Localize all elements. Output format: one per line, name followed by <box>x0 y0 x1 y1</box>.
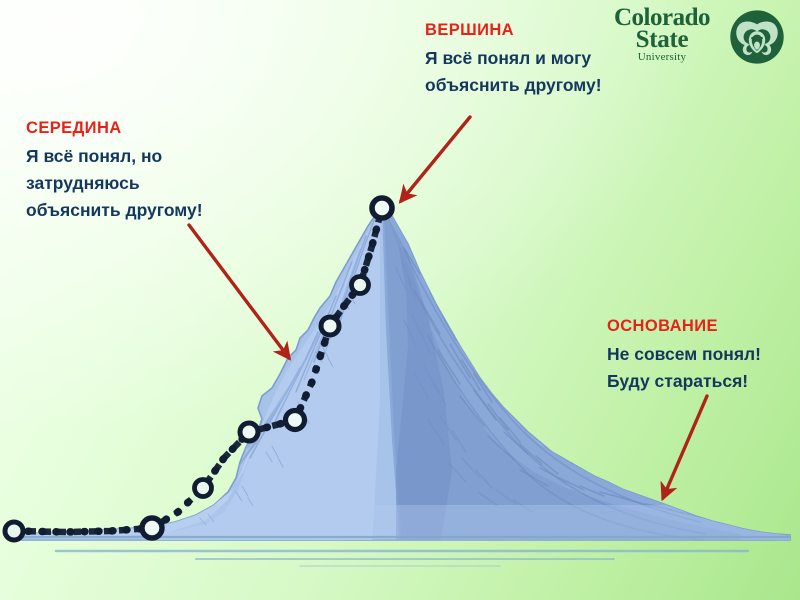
path-marker <box>5 522 23 540</box>
callout-base-line-2: Буду стараться! <box>607 370 761 393</box>
callout-middle: СЕРЕДИНА Я всё понял, но затрудняюсь объ… <box>26 118 203 227</box>
callout-summit: ВЕРШИНА Я всё понял и могу объяснить дру… <box>425 20 602 101</box>
callout-summit-heading: ВЕРШИНА <box>425 20 602 42</box>
csu-wordmark-line-3: University <box>598 51 726 63</box>
csu-wordmark: Colorado State University <box>598 6 726 64</box>
slide-canvas: СЕРЕДИНА Я всё понял, но затрудняюсь объ… <box>0 0 800 600</box>
path-marker <box>372 198 392 218</box>
path-marker <box>321 317 339 335</box>
callout-summit-line-2: объяснить другому! <box>425 74 602 97</box>
ram-head-icon <box>728 8 786 66</box>
callout-middle-heading: СЕРЕДИНА <box>26 118 203 140</box>
colorado-state-logo: Colorado State University <box>598 6 794 68</box>
path-marker <box>286 411 305 430</box>
ground-lines <box>10 537 790 566</box>
arrow-to-summit <box>401 117 470 201</box>
callout-middle-line-3: объяснить другому! <box>26 199 203 222</box>
mountain-illustration <box>0 0 800 600</box>
arrow-to-middle <box>189 225 289 358</box>
path-marker <box>240 423 258 441</box>
path-marker <box>195 480 212 497</box>
callout-middle-line-1: Я всё понял, но <box>26 145 203 168</box>
callout-middle-line-2: затрудняюсь <box>26 172 203 195</box>
path-marker <box>142 518 162 538</box>
callout-base-line-1: Не совсем понял! <box>607 343 761 366</box>
callout-summit-line-1: Я всё понял и могу <box>425 47 602 70</box>
csu-wordmark-line-2: State <box>598 29 726 51</box>
arrow-to-base <box>663 396 707 498</box>
path-marker <box>352 277 369 294</box>
callout-base-heading: ОСНОВАНИЕ <box>607 316 761 338</box>
callout-base: ОСНОВАНИЕ Не совсем понял! Буду старатьс… <box>607 316 761 397</box>
